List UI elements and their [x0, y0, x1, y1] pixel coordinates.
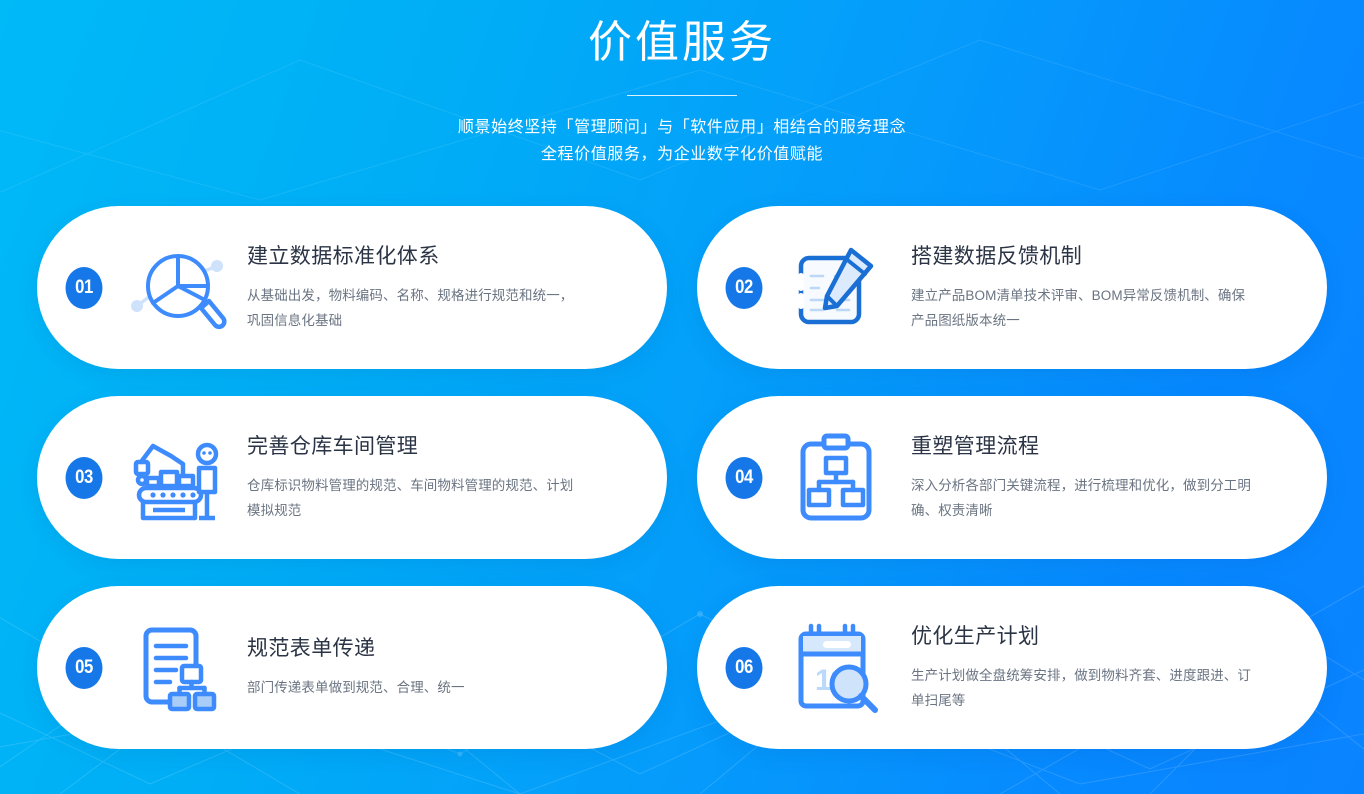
service-card-05[interactable]: 05	[37, 586, 667, 749]
card-text-block: 重塑管理流程 深入分析各部门关键流程，进行梳理和优化，做到分工明确、权责清晰	[911, 433, 1293, 523]
document-pencil-icon	[785, 236, 893, 340]
service-card-01[interactable]: 01	[37, 206, 667, 369]
service-card-grid: 01	[37, 206, 1327, 749]
page-subtitle: 顺景始终坚持「管理顾问」与「软件应用」相结合的服务理念 全程价值服务，为企业数字…	[0, 114, 1364, 168]
service-card-03[interactable]: 03	[37, 396, 667, 559]
factory-conveyor-worker-icon	[125, 426, 233, 530]
card-title: 建立数据标准化体系	[247, 243, 633, 271]
card-badge-number: 05	[66, 647, 103, 689]
document-flowchart-icon	[125, 616, 233, 720]
card-description: 部门传递表单做到规范、合理、统一	[247, 675, 582, 700]
card-title: 重塑管理流程	[911, 433, 1293, 461]
calendar-magnifier-icon: 11	[785, 616, 893, 720]
service-card-04[interactable]: 04	[697, 396, 1327, 559]
card-description: 从基础出发，物料编码、名称、规格进行规范和统一，巩固信息化基础	[247, 283, 582, 333]
pie-chart-magnifier-icon	[125, 236, 233, 340]
subtitle-line-2: 全程价值服务，为企业数字化价值赋能	[0, 141, 1364, 168]
card-title: 优化生产计划	[911, 623, 1293, 651]
card-badge-number: 02	[726, 267, 763, 309]
card-badge-number: 06	[726, 647, 763, 689]
value-service-page: 价值服务 顺景始终坚持「管理顾问」与「软件应用」相结合的服务理念 全程价值服务，…	[0, 0, 1364, 794]
card-badge-number: 04	[726, 457, 763, 499]
page-title: 价值服务	[0, 12, 1364, 74]
title-divider	[627, 95, 737, 96]
clipboard-orgchart-icon	[785, 426, 893, 530]
card-description: 仓库标识物料管理的规范、车间物料管理的规范、计划模拟规范	[247, 473, 582, 523]
card-title: 搭建数据反馈机制	[911, 243, 1293, 271]
card-description: 建立产品BOM清单技术评审、BOM异常反馈机制、确保产品图纸版本统一	[911, 283, 1251, 333]
card-description: 生产计划做全盘统筹安排，做到物料齐套、进度跟进、订单扫尾等	[911, 663, 1251, 713]
card-text-block: 规范表单传递 部门传递表单做到规范、合理、统一	[247, 635, 633, 700]
service-card-06[interactable]: 06 11 优化生产计划 生产计划做全盘统	[697, 586, 1327, 749]
card-text-block: 完善仓库车间管理 仓库标识物料管理的规范、车间物料管理的规范、计划模拟规范	[247, 433, 633, 523]
page-header: 价值服务 顺景始终坚持「管理顾问」与「软件应用」相结合的服务理念 全程价值服务，…	[0, 0, 1364, 168]
card-text-block: 建立数据标准化体系 从基础出发，物料编码、名称、规格进行规范和统一，巩固信息化基…	[247, 243, 633, 333]
card-title: 规范表单传递	[247, 635, 633, 663]
card-text-block: 优化生产计划 生产计划做全盘统筹安排，做到物料齐套、进度跟进、订单扫尾等	[911, 623, 1293, 713]
card-description: 深入分析各部门关键流程，进行梳理和优化，做到分工明确、权责清晰	[911, 473, 1251, 523]
subtitle-line-1: 顺景始终坚持「管理顾问」与「软件应用」相结合的服务理念	[0, 114, 1364, 141]
card-text-block: 搭建数据反馈机制 建立产品BOM清单技术评审、BOM异常反馈机制、确保产品图纸版…	[911, 243, 1293, 333]
card-badge-number: 01	[66, 267, 103, 309]
card-title: 完善仓库车间管理	[247, 433, 633, 461]
service-card-02[interactable]: 02	[697, 206, 1327, 369]
card-badge-number: 03	[66, 457, 103, 499]
